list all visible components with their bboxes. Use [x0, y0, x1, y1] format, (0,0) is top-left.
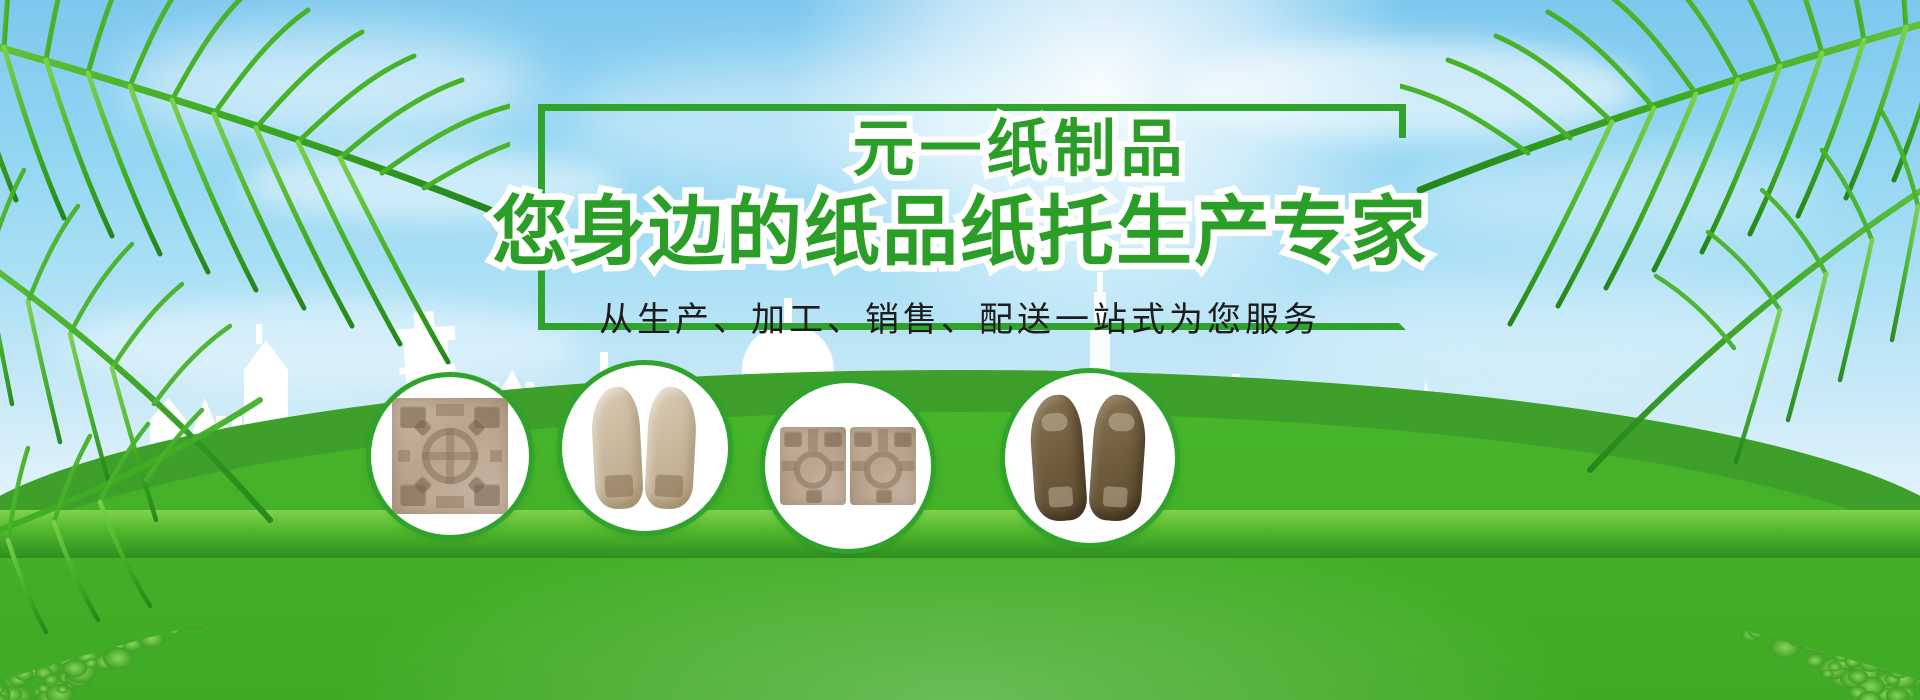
molded-pulp-tray-icon: [392, 398, 508, 514]
product-circle-4[interactable]: [1000, 368, 1180, 548]
paper-shoe-insert-dark-icon: [1030, 393, 1150, 523]
product-circle-2[interactable]: [557, 360, 733, 536]
promo-banner: 元一纸制品 您身边的纸品纸托生产专家 从生产、加工、销售、配送一站式为您服务: [0, 0, 1920, 700]
tagline: 从生产、加工、销售、配送一站式为您服务: [0, 292, 1920, 341]
page-subtitle-headline: 您身边的纸品纸托生产专家: [0, 170, 1920, 280]
product-circle-1[interactable]: [366, 372, 534, 540]
product-showcase: [0, 360, 1920, 700]
paper-shoe-insert-icon: [589, 385, 701, 511]
product-circle-3[interactable]: [760, 378, 936, 554]
molded-pulp-tray-pair-icon: [780, 427, 916, 505]
